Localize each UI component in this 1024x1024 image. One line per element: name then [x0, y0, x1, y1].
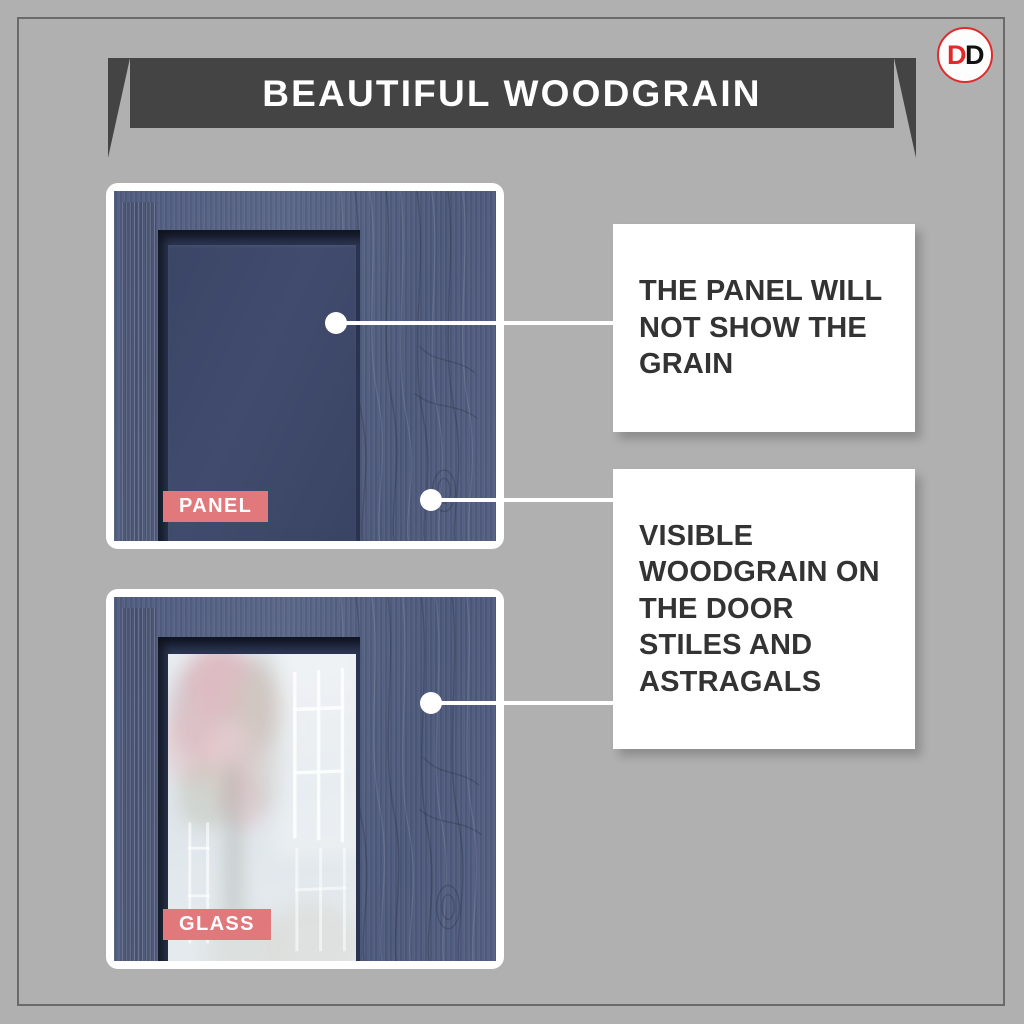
callout-line-stile-lower: [431, 701, 616, 705]
callout-dot-panel: [325, 312, 347, 334]
banner-body: BEAUTIFUL WOODGRAIN: [130, 58, 894, 128]
title-banner: BEAUTIFUL WOODGRAIN: [108, 58, 916, 158]
callout-line-panel: [336, 321, 616, 325]
brand-logo-text: DD: [947, 42, 983, 69]
banner-tail-right: [894, 58, 916, 158]
glass-door-photo: GLASS: [114, 597, 496, 961]
callout-text-visible-woodgrain: VISIBLE WOODGRAIN ON THE DOOR STILES AND…: [639, 518, 889, 701]
callout-card-panel-no-grain: THE PANEL WILL NOT SHOW THE GRAIN: [613, 224, 915, 432]
door-moulding-grooves: [122, 202, 156, 542]
brand-letter-2: D: [965, 40, 983, 70]
page-title: BEAUTIFUL WOODGRAIN: [262, 75, 761, 112]
glass-label-chip: GLASS: [163, 909, 271, 940]
callout-dot-stile-upper: [420, 489, 442, 511]
callout-card-visible-woodgrain: VISIBLE WOODGRAIN ON THE DOOR STILES AND…: [613, 469, 915, 749]
glass-door-card: GLASS: [106, 589, 504, 969]
panel-door-card: PANEL: [106, 183, 504, 549]
callout-line-stile-upper: [431, 498, 616, 502]
banner-tail-left: [108, 58, 130, 158]
callout-dot-stile-lower: [420, 692, 442, 714]
brand-logo-badge[interactable]: DD: [937, 27, 993, 83]
door-moulding-grooves: [122, 608, 156, 961]
callout-text-panel-no-grain: THE PANEL WILL NOT SHOW THE GRAIN: [639, 273, 889, 383]
panel-door-photo: PANEL: [114, 191, 496, 541]
infographic-canvas: BEAUTIFUL WOODGRAIN DD: [0, 0, 1024, 1024]
panel-label-chip: PANEL: [163, 491, 268, 522]
brand-letter-1: D: [947, 40, 965, 70]
